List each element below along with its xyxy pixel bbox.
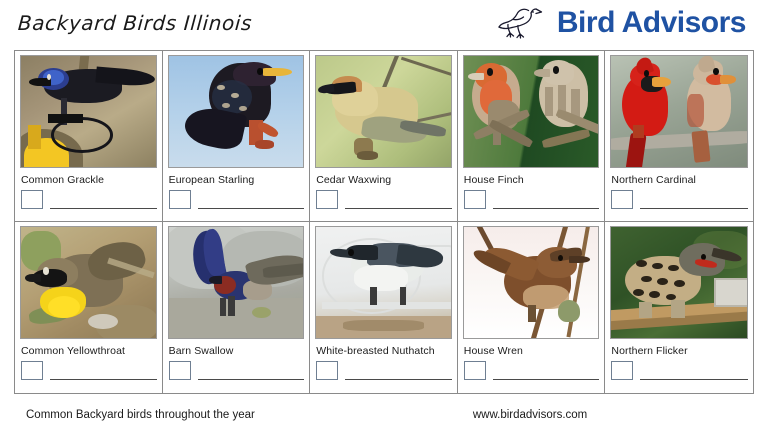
bird-name: Common Grackle xyxy=(21,174,157,186)
bird-card: Cedar Waxwing xyxy=(310,51,458,222)
bird-checklist-page: Backyard Birds Illinois Bird Adviso xyxy=(0,0,768,432)
brand-logo: Bird Advisors xyxy=(497,6,746,40)
seen-checkbox[interactable] xyxy=(316,361,338,380)
northern-cardinal-photo xyxy=(610,55,748,168)
notes-line[interactable] xyxy=(198,194,305,209)
bird-name: House Wren xyxy=(464,345,600,357)
page-header: Backyard Birds Illinois Bird Adviso xyxy=(0,0,768,46)
notes-line[interactable] xyxy=(50,194,157,209)
seen-checkbox[interactable] xyxy=(464,190,486,209)
bird-card: Northern Cardinal xyxy=(605,51,753,222)
bird-entry-row xyxy=(610,190,748,209)
seen-checkbox[interactable] xyxy=(611,190,633,209)
page-footer: Common Backyard birds throughout the yea… xyxy=(0,398,768,432)
seen-checkbox[interactable] xyxy=(316,190,338,209)
bird-card: White-breasted Nuthatch xyxy=(310,222,458,393)
northern-flicker-photo xyxy=(610,226,748,339)
notes-line[interactable] xyxy=(50,365,157,380)
bird-entry-row xyxy=(20,361,157,380)
bird-entry-row xyxy=(315,190,452,209)
seen-checkbox[interactable] xyxy=(169,361,191,380)
cedar-waxwing-photo xyxy=(315,55,452,168)
bird-card: Northern Flicker xyxy=(605,222,753,393)
common-grackle-photo xyxy=(20,55,157,168)
bird-card: Barn Swallow xyxy=(163,222,311,393)
bird-name: Northern Flicker xyxy=(611,345,748,357)
house-finch-photo xyxy=(463,55,600,168)
white-breasted-nuthatch-photo xyxy=(315,226,452,339)
bird-name: Barn Swallow xyxy=(169,345,305,357)
bird-card: Common Yellowthroat xyxy=(15,222,163,393)
notes-line[interactable] xyxy=(345,365,452,380)
footer-url: www.birdadvisors.com xyxy=(473,409,587,421)
bird-entry-row xyxy=(168,190,305,209)
bird-entry-row xyxy=(315,361,452,380)
common-yellowthroat-photo xyxy=(20,226,157,339)
brand-name: Bird Advisors xyxy=(557,8,746,38)
notes-line[interactable] xyxy=(345,194,452,209)
notes-line[interactable] xyxy=(198,365,305,380)
european-starling-photo xyxy=(168,55,305,168)
seen-checkbox[interactable] xyxy=(21,361,43,380)
bird-card: Common Grackle xyxy=(15,51,163,222)
bird-name: House Finch xyxy=(464,174,600,186)
bird-entry-row xyxy=(168,361,305,380)
bird-entry-row xyxy=(610,361,748,380)
notes-line[interactable] xyxy=(640,365,748,380)
bird-name: White-breasted Nuthatch xyxy=(316,345,452,357)
seen-checkbox[interactable] xyxy=(611,361,633,380)
bird-entry-row xyxy=(463,190,600,209)
footer-note: Common Backyard birds throughout the yea… xyxy=(26,409,255,421)
page-title: Backyard Birds Illinois xyxy=(17,11,253,35)
bird-entry-row xyxy=(463,361,600,380)
seen-checkbox[interactable] xyxy=(464,361,486,380)
barn-swallow-photo xyxy=(168,226,305,339)
seen-checkbox[interactable] xyxy=(169,190,191,209)
notes-line[interactable] xyxy=(640,194,748,209)
bird-card: House Wren xyxy=(458,222,606,393)
bird-entry-row xyxy=(20,190,157,209)
house-wren-photo xyxy=(463,226,600,339)
bird-name: European Starling xyxy=(169,174,305,186)
bird-grid: Common Grackle xyxy=(14,50,754,394)
seen-checkbox[interactable] xyxy=(21,190,43,209)
bird-line-drawing-icon xyxy=(497,6,549,40)
notes-line[interactable] xyxy=(493,365,600,380)
bird-card: European Starling xyxy=(163,51,311,222)
bird-name: Northern Cardinal xyxy=(611,174,748,186)
bird-name: Cedar Waxwing xyxy=(316,174,452,186)
bird-card: House Finch xyxy=(458,51,606,222)
bird-name: Common Yellowthroat xyxy=(21,345,157,357)
notes-line[interactable] xyxy=(493,194,600,209)
